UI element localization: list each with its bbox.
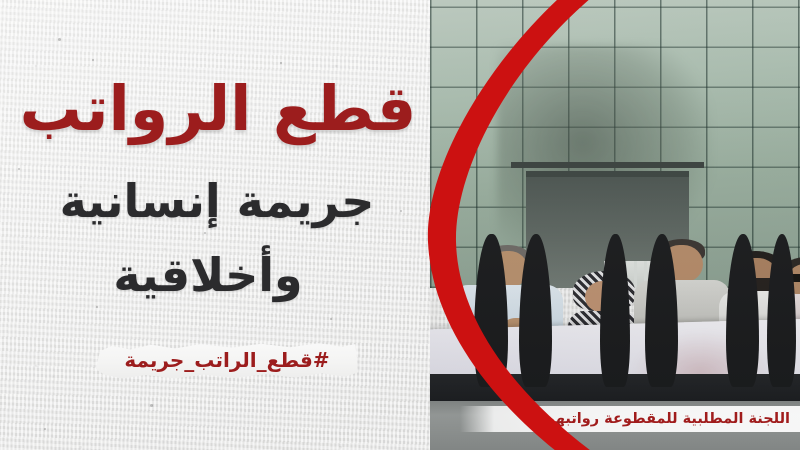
subtitle-line-1: جريمة إنسانية (0, 178, 452, 224)
subtitle-line-2: وأخلاقية (0, 252, 452, 298)
photo-caption-band: اللجنة المطلبية للمقطوعة رواتبهم (460, 406, 800, 432)
protest-photograph: لا لقطع الرواتب . للتقاعد المبكر . خصوما… (430, 0, 800, 450)
photo-color-grade (430, 0, 800, 450)
photo-caption: اللجنة المطلبية للمقطوعة رواتبهم (544, 411, 790, 427)
hashtag-text: #قطع_الراتب_جريمة (96, 338, 358, 382)
poster-canvas: لا لقطع الرواتب . للتقاعد المبكر . خصوما… (0, 0, 800, 450)
headline-block: قطع الرواتب جريمة إنسانية وأخلاقية #قطع_… (0, 0, 452, 450)
hashtag-container: #قطع_الراتب_جريمة (96, 338, 358, 382)
page-title: قطع الرواتب (0, 78, 452, 140)
